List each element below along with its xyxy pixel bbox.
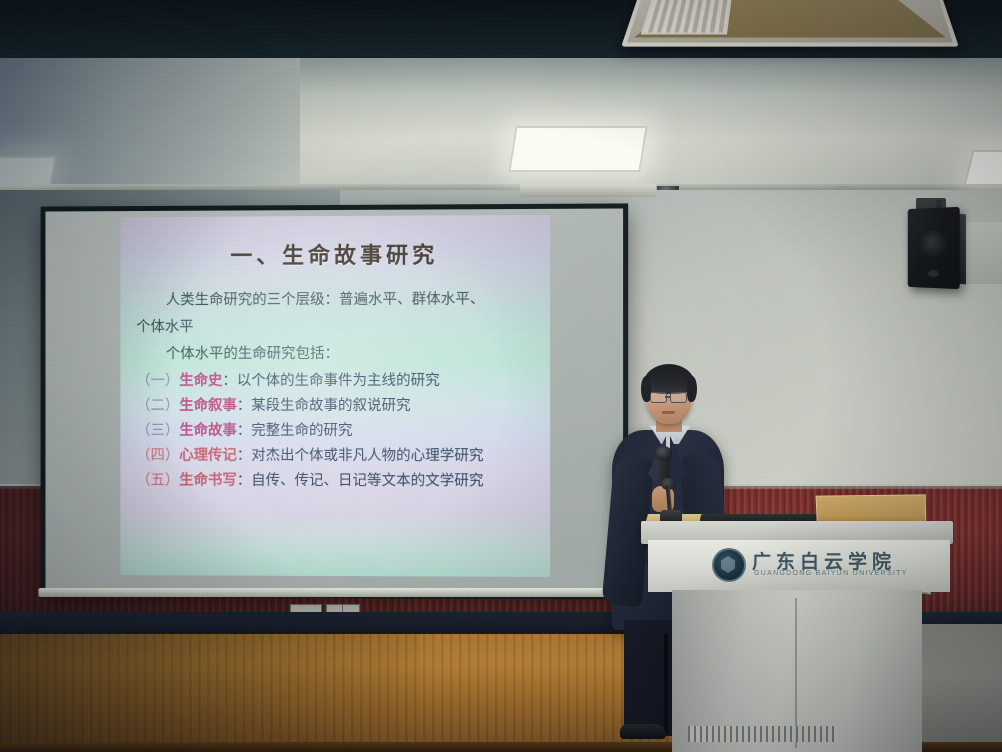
slide-list-item: （四）心理传记：对杰出个体或非凡人物的心理学研究 [136, 444, 540, 470]
slide-item-keyword: 生命书写 [179, 473, 237, 489]
slide-item-keyword: 生命故事 [179, 423, 237, 439]
slide-item-sep: ： [237, 473, 251, 489]
slide-item-keyword: 生命史 [179, 373, 222, 389]
slide-item-desc: 对杰出个体或非凡人物的心理学研究 [251, 448, 483, 464]
presenter-mouth [662, 411, 675, 414]
slide-item-desc: 完整生命的研究 [251, 423, 352, 439]
university-seal-icon [712, 548, 746, 582]
slide-list-item: （二）生命叙事：某段生命故事的叙说研究 [136, 394, 540, 419]
ceiling-ac-vent-icon [621, 0, 959, 47]
slide-list-item: （五）生命书写：自传、传记、日记等文本的文学研究 [136, 469, 540, 495]
slide-item-desc: 某段生命故事的叙说研究 [251, 398, 410, 414]
presenter-leg-separation [664, 634, 668, 734]
presenter-eyebrow-right [671, 388, 684, 391]
presenter-hair-side-right [687, 376, 697, 402]
eyeglasses-bridge [665, 396, 670, 398]
slide-item-keyword: 心理传记 [179, 448, 237, 464]
presenter-shoe-left [620, 724, 666, 739]
slide-list-item: （一）生命史：以个体的生命事件为主线的研究 [136, 369, 540, 394]
eyeglasses-icon-right-lens [670, 392, 687, 403]
ac-vent-grille [641, 0, 732, 35]
slide-item-sep: ： [237, 448, 251, 464]
slide-list-item: （三）生命故事：完整生命的研究 [136, 419, 540, 444]
projected-slide: 一、生命故事研究 人类生命研究的三个层级：普遍水平、群体水平、 个体水平 个体水… [120, 215, 550, 577]
podium-bottom-vent [688, 726, 838, 742]
handheld-microphone-head [655, 446, 672, 461]
slide-intro-line-3: 个体水平的生命研究包括： [136, 342, 540, 368]
slide-item-number: （二） [136, 398, 179, 414]
podium-branding: 广东白云学院 GUANGDONG BAIYUN UNIVERSITY [648, 540, 950, 592]
stage-floor-shadow [0, 634, 420, 752]
projection-screen-surface: 一、生命故事研究 人类生命研究的三个层级：普遍水平、群体水平、 个体水平 个体水… [45, 208, 623, 594]
ceiling-light-panel-center [508, 126, 647, 172]
slide-item-number: （一） [136, 373, 179, 389]
speaker-cone [919, 230, 948, 260]
slide-item-number: （三） [136, 423, 179, 439]
slide-item-sep: ： [237, 423, 251, 439]
presenter-eyebrow-left [651, 388, 664, 391]
projection-screen: 一、生命故事研究 人类生命研究的三个层级：普遍水平、群体水平、 个体水平 个体水… [41, 203, 629, 599]
slide-item-sep: ： [237, 398, 251, 414]
eyeglasses-icon-left-lens [650, 392, 667, 403]
slide-item-keyword: 生命叙事 [179, 398, 237, 414]
projector-screen-housing [520, 184, 656, 197]
slide-intro-line-1: 人类生命研究的三个层级：普遍水平、群体水平、 [136, 287, 540, 313]
projection-screen-weight-bar [39, 588, 621, 597]
slide-item-desc: 自传、传记、日记等文本的文学研究 [251, 473, 483, 490]
slide-item-number: （四） [136, 448, 179, 464]
speaker-tweeter [928, 270, 939, 277]
slide-intro-line-2: 个体水平 [136, 315, 540, 341]
lecture-hall-photo: 一、生命故事研究 人类生命研究的三个层级：普遍水平、群体水平、 个体水平 个体水… [0, 0, 1002, 752]
slide-item-number: （五） [136, 473, 179, 489]
slide-item-sep: ： [222, 373, 236, 389]
wall-mounted-speaker-icon [908, 207, 960, 289]
ceiling-light-panel-left [0, 156, 57, 186]
slide-title: 一、生命故事研究 [120, 237, 550, 271]
slide-body: 人类生命研究的三个层级：普遍水平、群体水平、 个体水平 个体水平的生命研究包括：… [136, 287, 540, 494]
university-name-en: GUANGDONG BAIYUN UNIVERSITY [754, 570, 908, 577]
slide-item-desc: 以个体的生命事件为主线的研究 [237, 373, 440, 389]
